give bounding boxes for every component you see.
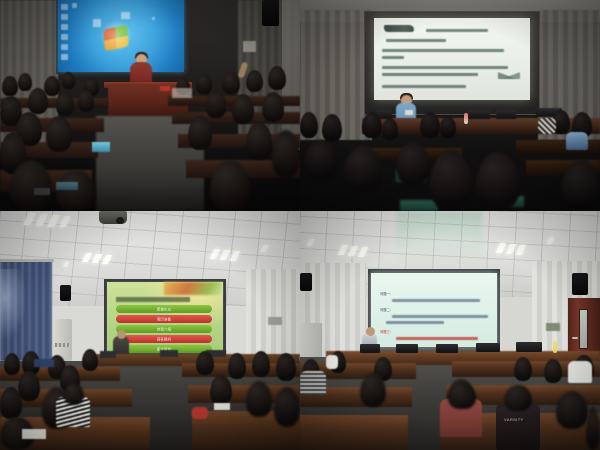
wall-control-panel: [268, 317, 282, 325]
laptop-on-desk: [34, 359, 54, 367]
audience-member-red-shoe: [192, 407, 208, 419]
audience-member: [246, 70, 263, 92]
audience-member: [196, 74, 212, 94]
audience-member-head: [504, 385, 532, 411]
slide-question-label-2: 问题二：: [380, 307, 393, 312]
audience-member: [206, 90, 226, 118]
audience-member: [82, 349, 98, 371]
desk-monitor: [160, 350, 178, 357]
desktop-app-icon: [61, 44, 68, 50]
audience-member: [4, 353, 20, 375]
audience-member-blue-top: [566, 132, 588, 150]
audience-member-foreground: [556, 391, 588, 429]
slide-question-text-2: [392, 315, 488, 318]
slide-bar-item-2: 简历准备: [116, 315, 212, 323]
photo-panel-top-left: [0, 0, 300, 211]
desk-monitor: [476, 343, 500, 352]
slide-brush-mark: [384, 25, 414, 32]
audience-member: [232, 94, 254, 124]
slide-text-line: [382, 66, 508, 69]
jersey-print-text: VARSITY: [504, 417, 524, 422]
audience-member: [0, 387, 22, 419]
wall-control-panel: [243, 41, 256, 52]
desktop-cursor-dot: [152, 17, 155, 20]
projector-lens-icon: [116, 217, 124, 224]
audience-member: [56, 92, 74, 116]
audience-member: [44, 76, 60, 96]
audience-member: [276, 353, 296, 381]
desktop-computer-icon: [61, 4, 68, 10]
laptop-screen-glow: [326, 150, 342, 157]
audience-member: [18, 371, 40, 401]
desktop-window-thumb: [121, 12, 130, 19]
slide-text-line: [382, 85, 466, 88]
water-bottle: [464, 113, 468, 124]
audience-member: [46, 116, 72, 152]
slide-question-label-3: 问题三：: [380, 329, 393, 334]
bird-decoration-icon: [498, 72, 520, 79]
audience-member: [228, 353, 246, 379]
audience-member-patterned-top: [538, 118, 556, 134]
audience-member: [196, 351, 214, 375]
audience-member-white-top: [568, 361, 592, 383]
audience-member: [252, 351, 270, 377]
slide-text-line: [426, 29, 488, 32]
audience-member: [440, 116, 456, 138]
slide-question-text-3: [396, 337, 478, 340]
audience-member: [246, 381, 272, 417]
audience-member-foreground: [274, 387, 300, 427]
audience-member: [2, 76, 18, 96]
desktop-recycle-bin-icon: [61, 14, 68, 20]
water-bottle: [553, 341, 557, 353]
podium-papers: [160, 86, 170, 91]
desktop-folder-icon: [61, 24, 68, 30]
wall-speaker-icon: [572, 273, 588, 295]
photo-panel-bottom-left: 着装礼仪 简历准备 自我介绍 回答提问 职业规划: [0, 211, 300, 450]
laptop-screen-glow: [92, 142, 110, 152]
audience-member-foreground: [344, 146, 382, 192]
audience-member-white-top: [326, 355, 338, 369]
audience-member: [268, 66, 286, 90]
audience-member-checked-shirt: [300, 371, 326, 395]
audience-member: [188, 116, 212, 150]
wall-control-panel: [546, 323, 560, 331]
audience-member: [420, 112, 440, 138]
desktop-window-thumb: [93, 19, 101, 27]
slide-text-line: [386, 39, 446, 42]
air-conditioner-vent: [55, 343, 70, 347]
projector-light-haze: [396, 211, 482, 271]
presenter-hands-holding-paper: [405, 110, 413, 115]
desk-monitor: [436, 344, 458, 353]
desk-monitor: [396, 344, 418, 353]
wall-speaker-icon: [60, 285, 71, 301]
audience-member-foreground: [56, 170, 96, 211]
photo-panel-bottom-right: 问题一： 问题二： 问题三：: [300, 211, 600, 450]
audience-member: [62, 72, 75, 89]
audience-member-head: [64, 383, 84, 405]
audience-member: [382, 118, 398, 140]
audience-member: [300, 112, 318, 138]
audience-member: [246, 122, 272, 160]
audience-member: [544, 359, 562, 383]
wall-speaker-icon: [262, 0, 279, 26]
desk-monitor: [496, 110, 516, 119]
audience-member-foreground: [586, 407, 600, 450]
presenter-head: [117, 330, 126, 339]
paper-on-desk: [22, 429, 46, 439]
slide-text-line: [382, 49, 504, 52]
wall-speaker-icon: [300, 273, 312, 291]
paper-on-desk: [214, 403, 230, 410]
photo-panel-top-right: [300, 0, 600, 211]
desk-monitor: [100, 351, 116, 358]
screen-highlight: [99, 20, 133, 54]
slide-bar-item-4: 回答提问: [116, 335, 212, 343]
audience-member: [262, 92, 284, 122]
desktop-document-icon: [61, 34, 68, 40]
paper-on-desk: [172, 88, 192, 98]
slide-bar-item-1: 着装礼仪: [116, 305, 212, 313]
audience-member: [18, 73, 32, 91]
slide-text-line: [382, 73, 478, 76]
audience-member: [78, 90, 94, 112]
audience-member: [28, 88, 48, 114]
audience-member: [322, 114, 342, 142]
slide-bar-label: 自我介绍: [157, 327, 171, 332]
desktop-app-icon: [72, 3, 77, 8]
door-glass-panel: [579, 309, 588, 349]
slide-title-text: [116, 297, 190, 302]
audience-member-foreground: [396, 142, 430, 186]
slide-bar-label: 着装礼仪: [157, 307, 171, 312]
door-handle[interactable]: [572, 337, 578, 339]
curtain-rail: [0, 259, 54, 262]
desktop-app-icon: [61, 54, 68, 60]
audience-member: [514, 357, 532, 381]
audience-member: [360, 373, 386, 407]
audience-member: [362, 112, 382, 138]
slide-bar-item-3: 自我介绍: [116, 325, 212, 333]
floor-green-mat: [400, 200, 438, 211]
audience-member-head: [448, 383, 476, 409]
student-desk-row: [300, 415, 408, 450]
audience-member: [210, 375, 232, 405]
window-daylight-glow: [0, 269, 26, 339]
desk-monitor: [516, 342, 542, 352]
presenter-head: [366, 327, 375, 336]
slide-bar-label: 简历准备: [157, 317, 171, 322]
audience-member-foreground: [304, 140, 338, 180]
slide-question-label-1: 问题一：: [380, 291, 393, 296]
desk-monitor: [360, 344, 380, 353]
slide-decoration-graphic: [164, 282, 222, 295]
slide-text-line: [382, 56, 404, 59]
photo-collage: 着装礼仪 简历准备 自我介绍 回答提问 职业规划: [0, 0, 600, 450]
slide-question-text-2b: [386, 321, 444, 324]
slide-bar-label: 回答提问: [157, 337, 171, 342]
desk-monitor: [468, 110, 490, 119]
slide-question-text-1: [392, 299, 480, 302]
phone-on-desk: [34, 188, 50, 195]
tablet-glow: [56, 182, 78, 190]
